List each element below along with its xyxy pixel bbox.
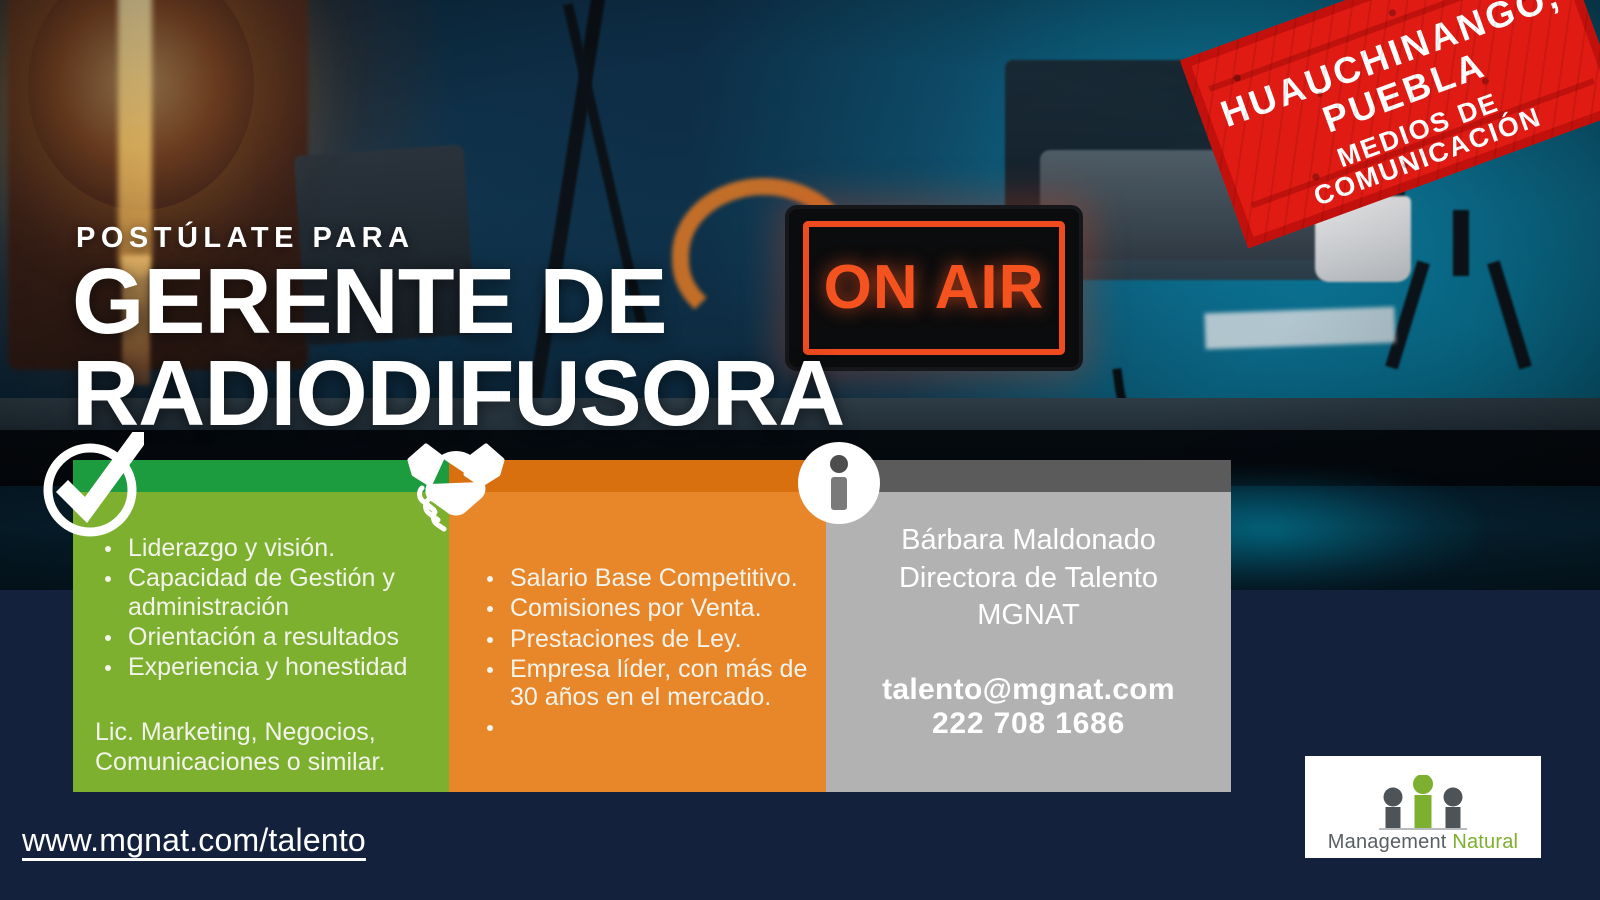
title-line-1: GERENTE DE	[72, 255, 992, 347]
requirements-list: Liderazgo y visión. Capacidad de Gestión…	[95, 534, 425, 683]
contact-panel-header	[826, 460, 1231, 492]
contact-role: Directora de Talento	[826, 560, 1231, 598]
offer-panel-body: Salario Base Competitivo. Comisiones por…	[449, 492, 826, 792]
contact-block: Bárbara Maldonado Directora de Talento M…	[826, 522, 1231, 741]
logo-word-natural: Natural	[1452, 831, 1518, 853]
list-item: Capacidad de Gestión y administración	[95, 564, 425, 621]
list-item: Prestaciones de Ley.	[477, 625, 817, 653]
requirements-footnote: Lic. Marketing, Negocios, Comunicaciones…	[95, 717, 435, 777]
list-item: Salario Base Competitivo.	[477, 564, 817, 592]
list-item: Orientación a resultados	[95, 623, 425, 651]
contact-phone[interactable]: 222 708 1686	[826, 707, 1231, 741]
contact-name: Bárbara Maldonado	[826, 522, 1231, 560]
website-link[interactable]: www.mgnat.com/talento	[22, 822, 366, 859]
page-title: GERENTE DE RADIODIFUSORA	[72, 255, 992, 439]
contact-panel: Bárbara Maldonado Directora de Talento M…	[826, 460, 1231, 792]
list-item: Comisiones por Venta.	[477, 594, 817, 622]
contact-company: MGNAT	[826, 597, 1231, 635]
title-line-2: RADIODIFUSORA	[72, 347, 992, 439]
contact-panel-body: Bárbara Maldonado Directora de Talento M…	[826, 492, 1231, 792]
list-item: Experiencia y honestidad	[95, 653, 425, 681]
offer-list: Salario Base Competitivo. Comisiones por…	[477, 564, 817, 713]
logo-word-management: Management	[1328, 831, 1447, 853]
company-logo: Management Natural	[1305, 756, 1541, 858]
list-item: Empresa líder, con más de 30 años en el …	[477, 655, 817, 712]
logo-people-icon	[1367, 775, 1479, 831]
job-posting-poster: ON AIR HUAUCHINANGO, PUEBLA MEDIOS DE CO…	[0, 0, 1600, 900]
check-circle-icon	[36, 432, 144, 540]
contact-email[interactable]: talento@mgnat.com	[826, 673, 1231, 707]
logo-wordmark: Management Natural	[1328, 831, 1518, 854]
info-circle-icon	[798, 442, 880, 524]
list-item: Liderazgo y visión.	[95, 534, 425, 562]
handshake-icon	[404, 438, 508, 532]
